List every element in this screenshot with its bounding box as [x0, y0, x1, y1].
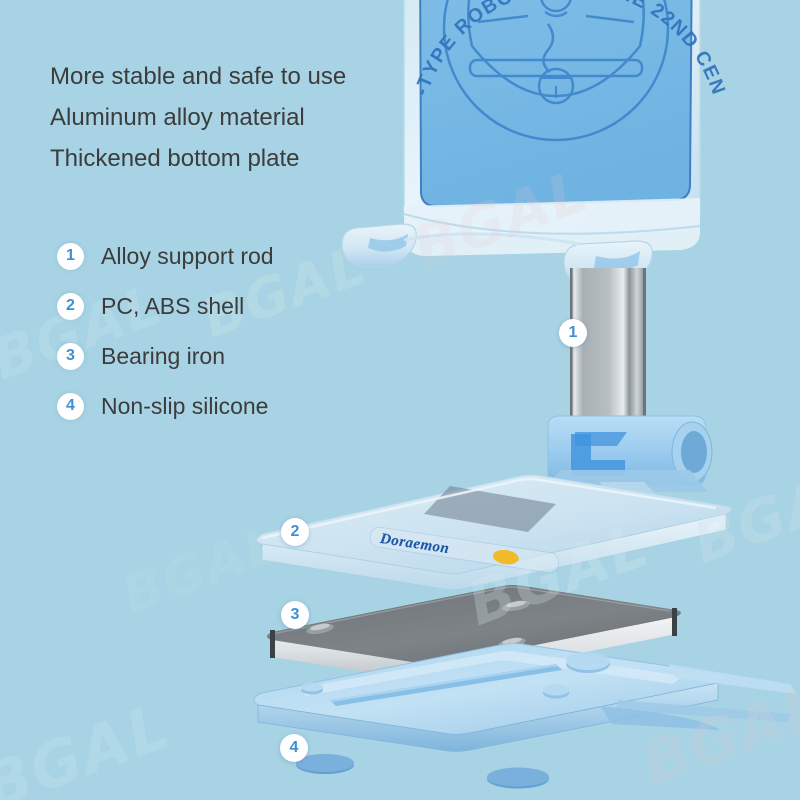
callout-badge-2: 2	[281, 518, 309, 546]
alloy-support-rod	[570, 268, 646, 436]
feature-item-1: 1 Alloy support rod	[57, 231, 274, 281]
feature-label-2: PC, ABS shell	[101, 293, 244, 320]
headline-1: More stable and safe to use	[50, 56, 346, 97]
callout-badge-3: 3	[281, 601, 309, 629]
feature-label-3: Bearing iron	[101, 343, 225, 370]
headline-block: More stable and safe to use Aluminum all…	[50, 56, 346, 179]
callout-badge-1: 1	[559, 319, 587, 347]
pc-abs-shell-plate: Doraemon Doraemon	[257, 475, 731, 590]
callout-badge-4: 4	[280, 734, 308, 762]
feature-item-4: 4 Non-slip silicone	[57, 381, 274, 431]
feature-label-4: Non-slip silicone	[101, 393, 268, 420]
feature-badge-1: 1	[57, 243, 84, 270]
feature-badge-3: 3	[57, 343, 84, 370]
product-infographic: -TYPE ROBOT FROM THE 22ND CEN	[0, 0, 800, 800]
non-slip-silicone-pads	[296, 754, 549, 789]
feature-badge-2: 2	[57, 293, 84, 320]
feature-label-1: Alloy support rod	[101, 243, 274, 270]
feature-badge-4: 4	[57, 393, 84, 420]
feature-item-3: 3 Bearing iron	[57, 331, 274, 381]
headline-3: Thickened bottom plate	[50, 138, 346, 179]
headline-2: Aluminum alloy material	[50, 97, 346, 138]
feature-item-2: 2 PC, ABS shell	[57, 281, 274, 331]
feature-list: 1 Alloy support rod 2 PC, ABS shell 3 Be…	[57, 231, 274, 431]
phone-backplate: -TYPE ROBOT FROM THE 22ND CEN	[342, 0, 730, 288]
